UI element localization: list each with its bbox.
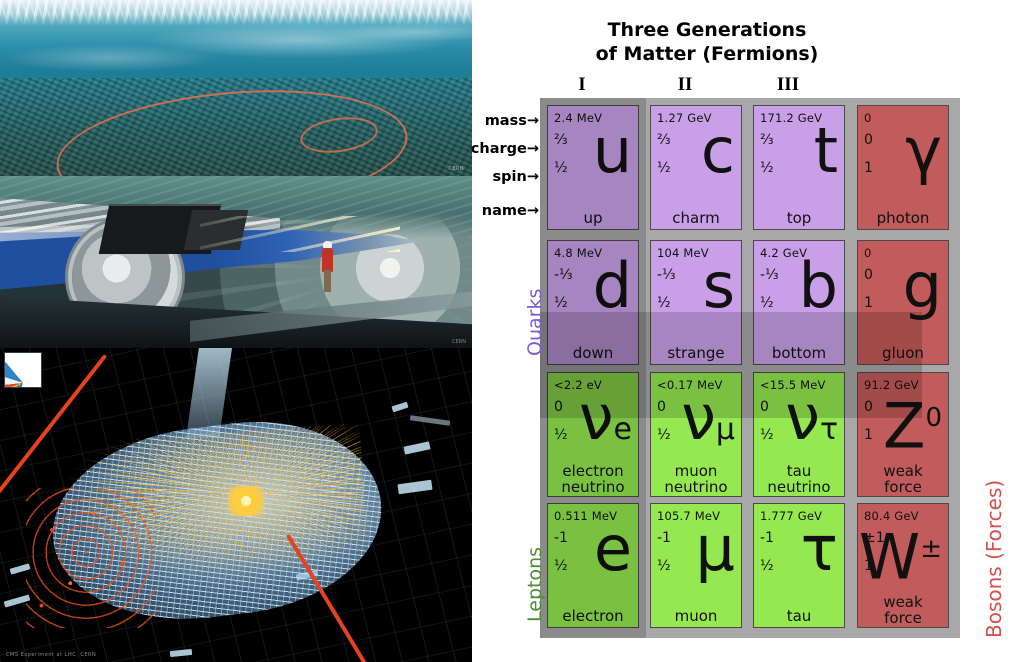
up-charge: ⅔ [554,132,568,148]
bottom-charge: -⅓ [760,267,779,283]
particle-cell-tau-neutrino[interactable]: <15.5 MeV 0 ½ ντ tau neutrino [753,372,845,497]
top-spin: ½ [760,160,774,176]
gluon-spin: 1 [864,295,873,311]
electron-symbol: e [594,518,632,580]
tunnel-lights [200,216,400,252]
worker-helmet-icon [323,241,332,248]
cms-cross-section-inset [4,352,42,388]
bottom-name: bottom [754,346,844,361]
row-label-column: mass→ charge→ spin→ name→ [472,105,539,235]
event-display-stamp: CMS Experiment at LHC, CERN [6,652,96,658]
particle-cell-photon[interactable]: 0 0 1 γ photon [857,105,949,230]
charm-name: charm [651,211,741,226]
w-boson-name: weak force [858,595,948,626]
top-charge: ⅔ [760,132,774,148]
particle-cell-charm[interactable]: 1.27 GeV ⅔ ½ c charm [650,105,742,230]
down-name: down [548,346,638,361]
particle-cell-z-boson[interactable]: 91.2 GeV 0 1 Z0 weak force [857,372,949,497]
charm-symbol: c [701,120,735,182]
electron-neutrino-name: electron neutrino [548,464,638,495]
particle-cell-strange[interactable]: 104 MeV -⅓ ½ s strange [650,240,742,365]
muon-neutrino-name: muon neutrino [651,464,741,495]
top-name: top [754,211,844,226]
electron-spin: ½ [554,558,568,574]
leptons-side-label: Leptons [524,547,546,622]
tau-charge: -1 [760,530,774,546]
electron-neutrino-symbol: νe [579,387,632,461]
generation-label-2: II [635,74,735,96]
tau-spin: ½ [760,558,774,574]
tunnel-photo-credit: CERN [452,339,466,345]
cms-event-display: CMS Experiment at LHC, CERN [0,348,472,662]
particle-cell-top[interactable]: 171.2 GeV ⅔ ½ t top [753,105,845,230]
generation-label-1: I [532,74,632,96]
charm-charge: ⅔ [657,132,671,148]
z-boson-symbol: Z0 [883,387,942,458]
photon-symbol: γ [905,120,942,182]
gluon-charge: 0 [864,267,873,283]
bosons-side-label: Bosons (Forces) [982,480,1006,638]
strange-symbol: s [703,255,735,317]
strange-name: strange [651,346,741,361]
mass-row-label: mass→ [485,113,539,129]
z-boson-name: weak force [858,464,948,495]
worker-figure [322,248,333,272]
bottom-spin: ½ [760,295,774,311]
tau-symbol: τ [801,518,838,580]
tau-neutrino-symbol: ντ [785,387,838,461]
generation-header-row: I II III [532,74,942,98]
muon-symbol: μ [696,518,735,580]
electron-neutrino-spin: ½ [554,427,568,443]
bottom-symbol: b [799,255,838,317]
muon-neutrino-spin: ½ [657,427,671,443]
down-symbol: d [593,255,632,317]
particle-cell-down[interactable]: 4.8 MeV -⅓ ½ d down [547,240,639,365]
tau-neutrino-spin: ½ [760,427,774,443]
worker-legs [324,270,331,292]
particle-cell-tau[interactable]: 1.777 GeV -1 ½ τ tau [753,503,845,628]
strange-charge: -⅓ [657,267,676,283]
spin-row-label: spin→ [493,169,539,185]
particle-cell-up[interactable]: 2.4 MeV ⅔ ½ u up [547,105,639,230]
title-line-2: of Matter (Fermions) [472,42,942,66]
gluon-symbol: g [903,255,942,317]
gluon-name: gluon [858,346,948,361]
particle-cell-w-boson[interactable]: 80.4 GeV ±1 1 W± weak force [857,503,949,628]
muon-name: muon [651,609,741,624]
electron-charge: -1 [554,530,568,546]
up-symbol: u [593,120,632,182]
lhc-tunnel-photo: CERN [0,176,472,348]
charm-spin: ½ [657,160,671,176]
photo-column: CERN CERN CMS [0,0,472,662]
title-line-1: Three Generations [472,18,942,42]
particle-cell-gluon[interactable]: 0 0 1 g gluon [857,240,949,365]
photon-spin: 1 [864,160,873,176]
muon-spin: ½ [657,558,671,574]
particle-cell-electron-neutrino[interactable]: <2.2 eV 0 ½ νe electron neutrino [547,372,639,497]
up-name: up [548,211,638,226]
strange-mass: 104 MeV [657,246,709,260]
down-charge: -⅓ [554,267,573,283]
top-symbol: t [814,120,838,182]
electron-name: electron [548,609,638,624]
tau-neutrino-name: tau neutrino [754,464,844,495]
table-title: Three Generations of Matter (Fermions) [472,18,942,67]
muon-neutrino-symbol: νμ [681,387,735,461]
tau-neutrino-charge: 0 [760,399,769,415]
aerial-photo-credit: CERN [449,166,464,172]
photon-charge: 0 [864,132,873,148]
generation-label-3: III [738,74,838,96]
standard-model-table: Three Generations of Matter (Fermions) I… [472,0,1014,662]
collision-vertex [228,486,264,516]
z-boson-spin: 1 [864,427,873,443]
quarks-side-label: Quarks [524,289,546,356]
down-spin: ½ [554,295,568,311]
particle-cell-muon-neutrino[interactable]: <0.17 MeV 0 ½ νμ muon neutrino [650,372,742,497]
tau-name: tau [754,609,844,624]
muon-neutrino-charge: 0 [657,399,666,415]
particle-cell-muon[interactable]: 105.7 MeV -1 ½ μ muon [650,503,742,628]
strange-spin: ½ [657,295,671,311]
z-boson-charge: 0 [864,399,873,415]
muon-charge: -1 [657,530,671,546]
w-boson-symbol: W± [859,518,942,589]
photon-name: photon [858,211,948,226]
charge-row-label: charge→ [471,141,539,157]
electron-neutrino-charge: 0 [554,399,563,415]
cern-aerial-photo: CERN [0,0,472,176]
photon-mass: 0 [864,111,872,125]
up-spin: ½ [554,160,568,176]
name-row-label: name→ [482,203,539,219]
gluon-mass: 0 [864,246,872,260]
particle-cell-bottom[interactable]: 4.2 GeV -⅓ ½ b bottom [753,240,845,365]
particle-cell-electron[interactable]: 0.511 MeV -1 ½ e electron [547,503,639,628]
